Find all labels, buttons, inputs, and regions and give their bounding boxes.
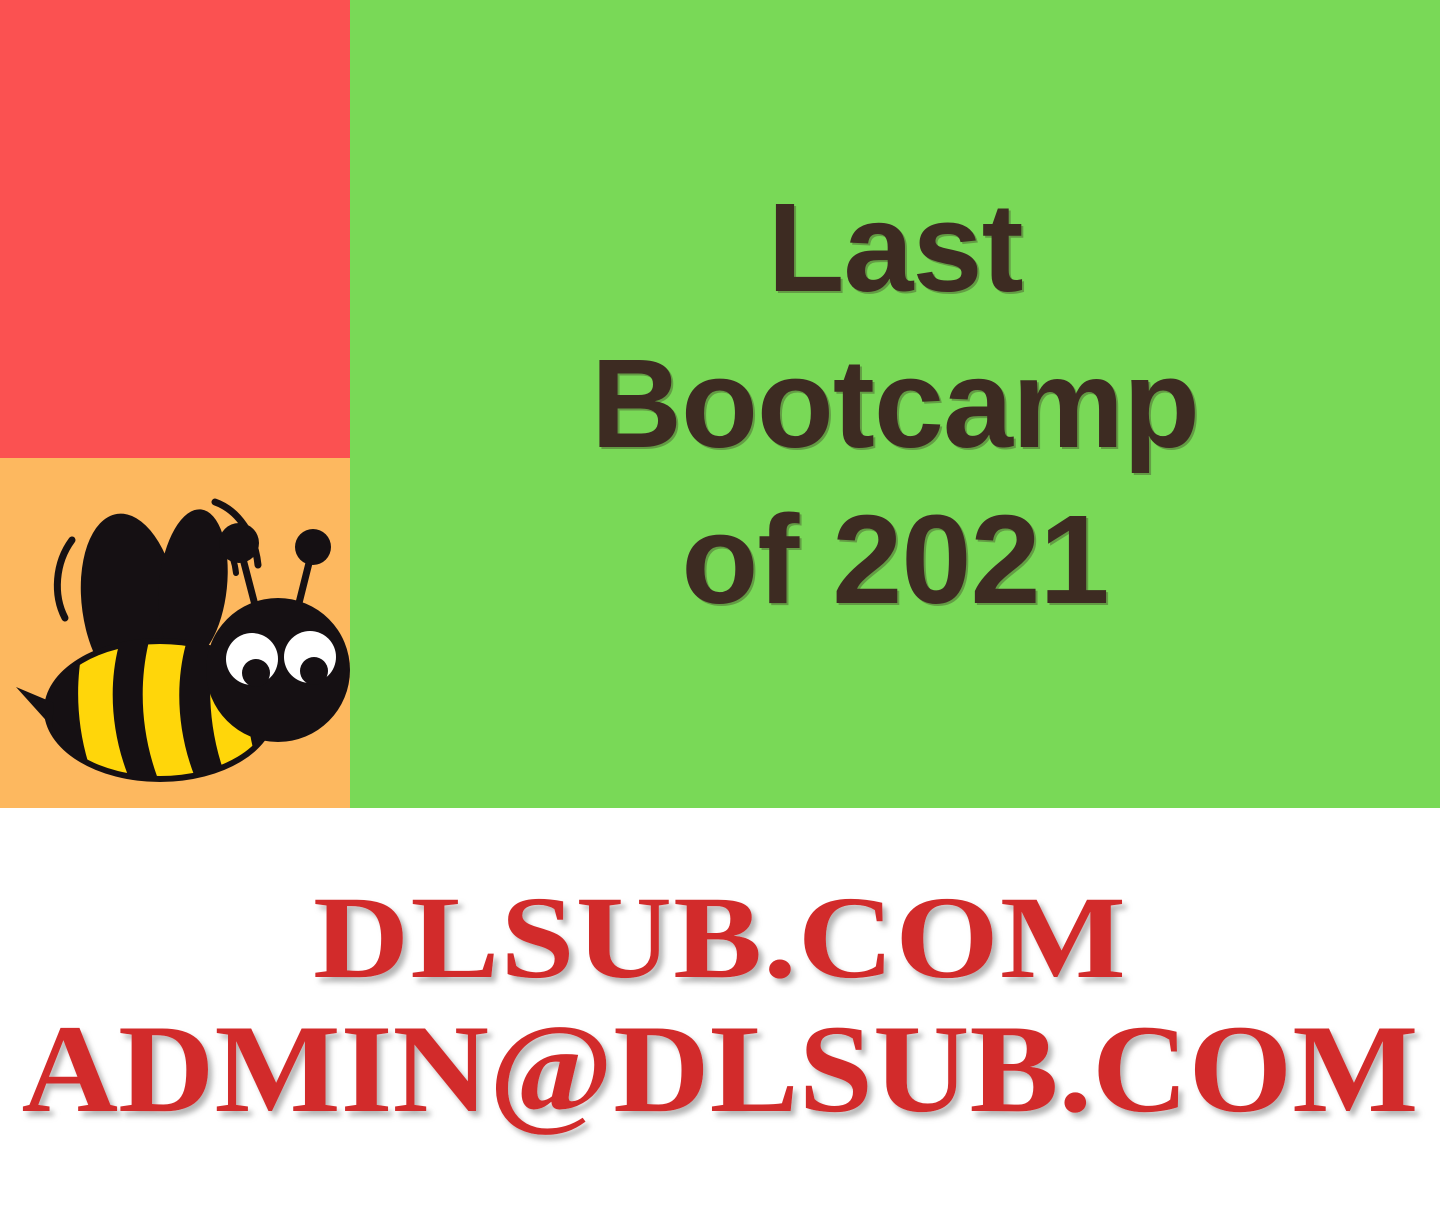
motion-arc-left-outer bbox=[57, 540, 72, 618]
watermark-email: ADMIN@DLSUB.COM bbox=[0, 998, 1440, 1142]
title-line-3: of 2021 bbox=[681, 482, 1108, 638]
bee-eye-right-pupil bbox=[300, 657, 328, 685]
bee-antenna-right-tip bbox=[295, 529, 331, 565]
bee-antenna-left-tip bbox=[219, 523, 259, 563]
bee-eye-left-pupil bbox=[242, 659, 270, 687]
bee-antenna-right-stem bbox=[298, 559, 310, 607]
red-color-block bbox=[0, 0, 350, 458]
title-line-1: Last bbox=[767, 170, 1022, 326]
bee-antenna-left-stem bbox=[242, 555, 255, 605]
watermark-zone: DLSUB.COM ADMIN@DLSUB.COM bbox=[0, 808, 1440, 1209]
bee-icon: .bk { fill:#151013; } .yl { fill:#FFD60A… bbox=[10, 455, 350, 805]
poster-canvas: .bk { fill:#151013; } .yl { fill:#FFD60A… bbox=[0, 0, 1440, 1209]
watermark-site: DLSUB.COM bbox=[0, 870, 1440, 1006]
title-line-2: Bootcamp bbox=[591, 326, 1199, 482]
banner: .bk { fill:#151013; } .yl { fill:#FFD60A… bbox=[0, 0, 1440, 808]
poster-title: Last Bootcamp of 2021 bbox=[350, 0, 1440, 808]
bee-illustration: .bk { fill:#151013; } .yl { fill:#FFD60A… bbox=[10, 455, 350, 805]
